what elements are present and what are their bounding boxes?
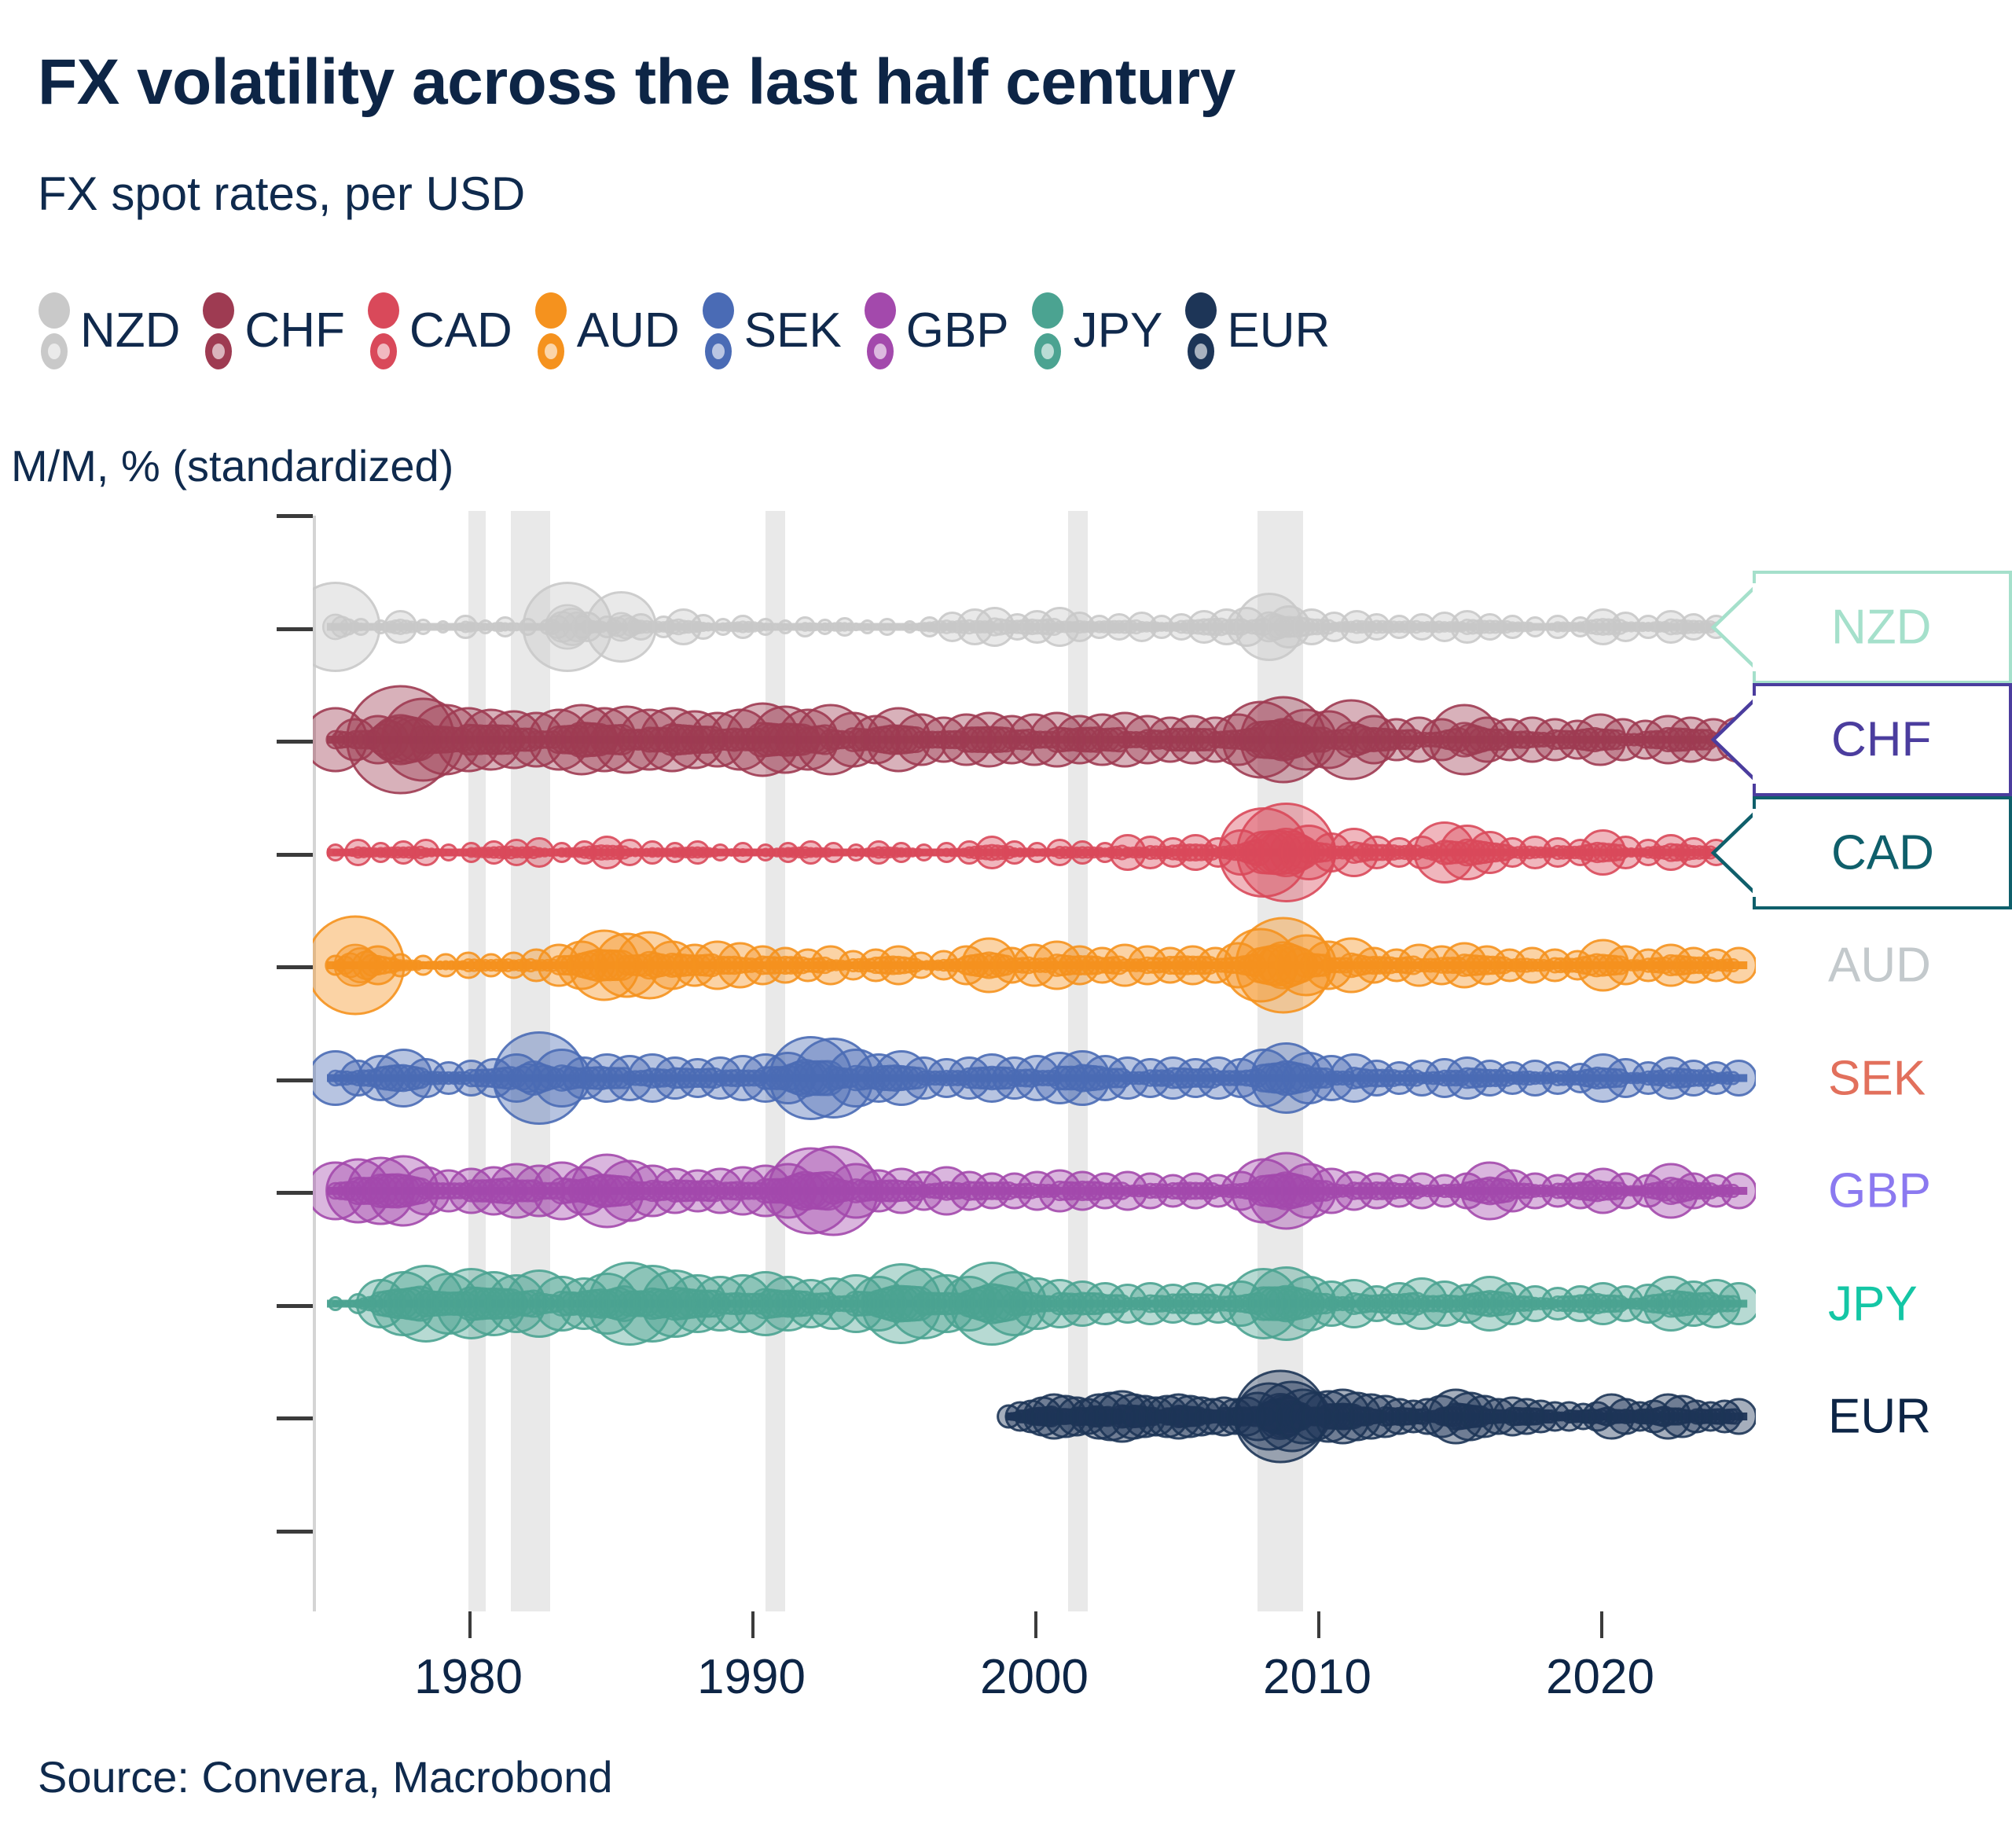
y-axis-tick: [277, 965, 313, 969]
legend-dot-hollow: [205, 333, 232, 369]
series-jpy: [327, 1263, 1756, 1345]
legend-item-jpy[interactable]: JPY: [1030, 289, 1163, 373]
y-axis-tick: [277, 1304, 313, 1308]
source-note: Source: Convera, Macrobond: [38, 1751, 613, 1802]
plot-area: [277, 511, 1756, 1611]
series-cad: [327, 804, 1753, 902]
bubble-pair-icon: [36, 289, 72, 373]
legend-item-label: NZD: [80, 307, 180, 355]
callout-pointer-icon: [1709, 580, 1757, 674]
y-axis-tick: [277, 1530, 313, 1534]
legend-item-label: SEK: [744, 307, 842, 355]
y-axis-tick: [277, 1416, 313, 1420]
callout-pointer-icon: [1709, 806, 1757, 900]
series-label-eur: EUR: [1828, 1389, 1931, 1445]
legend-dot-solid: [865, 292, 896, 329]
bubble-pair-icon: [533, 289, 569, 373]
y-axis-tick: [277, 627, 313, 631]
callout-nzd[interactable]: NZD: [1753, 571, 2012, 684]
series-gbp: [313, 1147, 1756, 1235]
y-axis-tick: [277, 1191, 313, 1195]
legend-dot-solid: [368, 292, 399, 329]
series-label: CHF: [1831, 712, 1931, 768]
legend-dot-solid: [39, 292, 70, 329]
legend-item-cad[interactable]: CAD: [365, 289, 512, 373]
legend-dot-solid: [535, 292, 567, 329]
legend-dot-solid: [1185, 292, 1217, 329]
series-label-jpy: JPY: [1828, 1276, 1918, 1332]
legend-item-nzd[interactable]: NZD: [36, 289, 180, 373]
callout-pointer-icon: [1709, 693, 1757, 787]
x-axis-tick-label: 2010: [1263, 1649, 1371, 1705]
series-aud: [313, 917, 1756, 1014]
callout-chf[interactable]: CHF: [1753, 683, 2012, 796]
legend-item-eur[interactable]: EUR: [1183, 289, 1330, 373]
bubble-pair-icon: [365, 289, 402, 373]
bubble-pair-icon: [700, 289, 736, 373]
y-axis-tick: [277, 514, 313, 518]
bubble-pair-icon: [862, 289, 898, 373]
series-label-aud: AUD: [1828, 938, 1931, 994]
series-label-sek: SEK: [1828, 1050, 1926, 1106]
legend-item-label: GBP: [906, 307, 1009, 355]
series-label: NZD: [1831, 599, 1931, 655]
x-axis-tick: [1034, 1611, 1037, 1638]
legend-item-label: JPY: [1074, 307, 1163, 355]
legend-dot-hollow: [1188, 333, 1214, 369]
legend-dot-solid: [203, 292, 234, 329]
legend-dot-solid: [1032, 292, 1063, 329]
bubble-pair-icon: [200, 289, 237, 373]
x-axis-tick-label: 2000: [980, 1649, 1089, 1705]
bubble-pair-icon: [1183, 289, 1219, 373]
x-axis-tick: [751, 1611, 754, 1638]
series-label-gbp: GBP: [1828, 1163, 1931, 1219]
legend-item-chf[interactable]: CHF: [200, 289, 344, 373]
series-nzd: [313, 583, 1751, 671]
x-axis-tick-label: 1990: [697, 1649, 806, 1705]
legend-item-label: AUD: [577, 307, 680, 355]
series-right-labels: NZDCHFCADAUDSEKGBPJPYEUR: [1800, 503, 2012, 1619]
legend-dot-hollow: [370, 333, 397, 369]
legend-item-sek[interactable]: SEK: [700, 289, 842, 373]
series-chf: [313, 686, 1756, 793]
y-axis-tick: [277, 853, 313, 857]
legend-item-label: CHF: [244, 307, 344, 355]
x-axis-tick: [1317, 1611, 1320, 1638]
series-label: CAD: [1831, 825, 1934, 880]
x-axis-tick-label: 2020: [1546, 1649, 1654, 1705]
page-subtitle: FX spot rates, per USD: [38, 167, 525, 221]
callout-cad[interactable]: CAD: [1753, 796, 2012, 909]
legend-dot-hollow: [705, 333, 732, 369]
series-sek: [313, 1033, 1756, 1124]
legend-dot-hollow: [1034, 333, 1061, 369]
y-axis-tick: [277, 740, 313, 744]
y-axis-label: M/M, % (standardized): [11, 440, 453, 491]
legend-item-label: CAD: [409, 307, 512, 355]
page-title: FX volatility across the last half centu…: [38, 46, 1235, 119]
bubble-lanes: [313, 511, 1756, 1611]
legend-item-label: EUR: [1227, 307, 1330, 355]
y-axis-tick: [277, 1078, 313, 1082]
legend-dot-hollow: [41, 333, 68, 369]
legend-item-gbp[interactable]: GBP: [862, 289, 1009, 373]
legend: NZDCHFCADAUDSEKGBPJPYEUR: [36, 289, 1350, 373]
chart-page: FX volatility across the last half centu…: [0, 0, 2012, 1848]
x-axis-tick-label: 1980: [414, 1649, 523, 1705]
series-eur: [998, 1371, 1756, 1462]
legend-dot-hollow: [867, 333, 894, 369]
x-axis: 19801990200020102020: [277, 1611, 1756, 1737]
plot-inner: [277, 511, 1756, 1611]
legend-dot-solid: [703, 292, 734, 329]
legend-item-aud[interactable]: AUD: [533, 289, 680, 373]
x-axis-tick: [468, 1611, 472, 1638]
x-axis-tick: [1600, 1611, 1603, 1638]
legend-dot-hollow: [538, 333, 564, 369]
bubble-pair-icon: [1030, 289, 1066, 373]
